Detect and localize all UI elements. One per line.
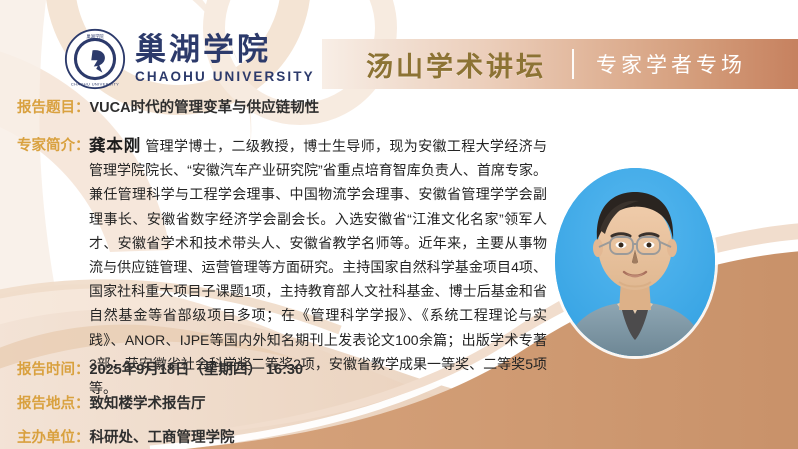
report-place-label: 报告地点：: [17, 392, 90, 413]
report-host-value: 科研处、工商管理学院: [90, 426, 235, 447]
report-time-label: 报告时间：: [17, 358, 90, 379]
report-host-label: 主办单位：: [17, 426, 90, 447]
report-time-row: 报告时间： 2025年9月18日（星期四） 16:30: [17, 358, 303, 379]
svg-text:CHAOHU UNIVERSITY: CHAOHU UNIVERSITY: [71, 82, 119, 87]
report-place-value: 致知楼学术报告厅: [90, 392, 206, 413]
university-name-cn: 巢湖学院: [135, 34, 315, 67]
report-host-row: 主办单位： 科研处、工商管理学院: [17, 426, 235, 447]
speaker-name: 龚本刚: [89, 137, 141, 155]
banner-title: 汤山学术讲坛: [366, 45, 546, 84]
banner-divider-icon: [572, 49, 574, 79]
university-logo-block: 巢湖学院 CHAOHU UNIVERSITY 巢湖学院 CHAOHU UNIVE…: [64, 28, 315, 90]
report-time-value: 2025年9月18日（星期四） 16:30: [90, 358, 304, 379]
event-banner: 汤山学术讲坛 专家学者专场: [322, 39, 798, 89]
speaker-portrait-photo: [555, 168, 715, 356]
poster-header: 汤山学术讲坛 专家学者专场 巢湖学院 CHAOHU UNIVERSITY 巢湖学…: [0, 0, 798, 96]
seminar-poster: 汤山学术讲坛 专家学者专场 巢湖学院 CHAOHU UNIVERSITY 巢湖学…: [0, 0, 798, 449]
report-title-row: 报告题目： VUCA时代的管理变革与供应链韧性: [17, 96, 319, 117]
university-seal-icon: 巢湖学院 CHAOHU UNIVERSITY: [64, 28, 126, 90]
report-place-row: 报告地点： 致知楼学术报告厅: [17, 392, 206, 413]
university-name-en: CHAOHU UNIVERSITY: [135, 69, 315, 84]
speaker-portrait: [555, 168, 715, 356]
speaker-bio-label: 专家简介：: [17, 134, 90, 155]
banner-subtitle: 专家学者专场: [596, 49, 746, 79]
report-title-label: 报告题目：: [17, 96, 90, 117]
report-title-value: VUCA时代的管理变革与供应链韧性: [90, 96, 320, 117]
